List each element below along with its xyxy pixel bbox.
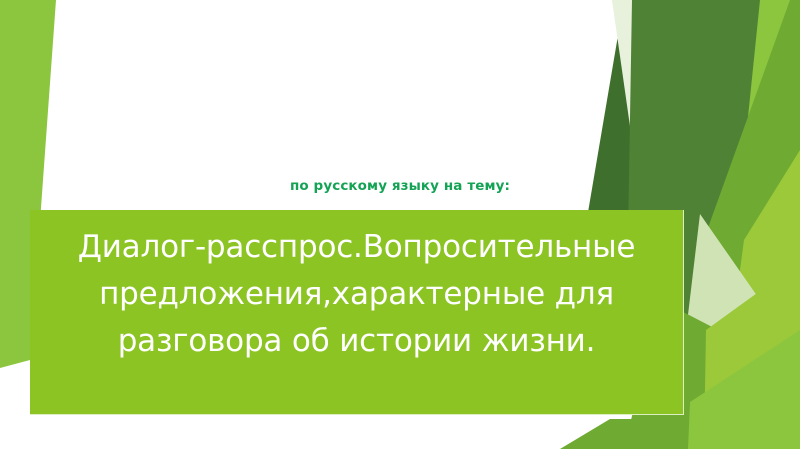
title-line-1: Диалог-расспрос.Вопросительные [30, 224, 683, 271]
title-line-3: разговора об истории жизни. [30, 318, 683, 365]
title-box: Диалог-расспрос.Вопросительные предложен… [30, 210, 684, 415]
title-slide: по русскому языку на тему: Диалог-расспр… [0, 0, 800, 449]
right-bright-green-column [714, 0, 800, 449]
bottom-right-accent-wedge [688, 330, 800, 449]
slide-title: Диалог-расспрос.Вопросительные предложен… [30, 224, 683, 365]
bottom-right-bright-wedge [704, 262, 800, 449]
bottom-green-strip [560, 419, 800, 449]
right-pale-lower-wedge [672, 214, 760, 449]
title-line-2: предложения,характерные для [30, 271, 683, 318]
slide-subtitle: по русскому языку на тему: [0, 178, 800, 194]
right-mid-green-wedge [700, 0, 800, 449]
right-light-green-sliver [716, 150, 800, 449]
